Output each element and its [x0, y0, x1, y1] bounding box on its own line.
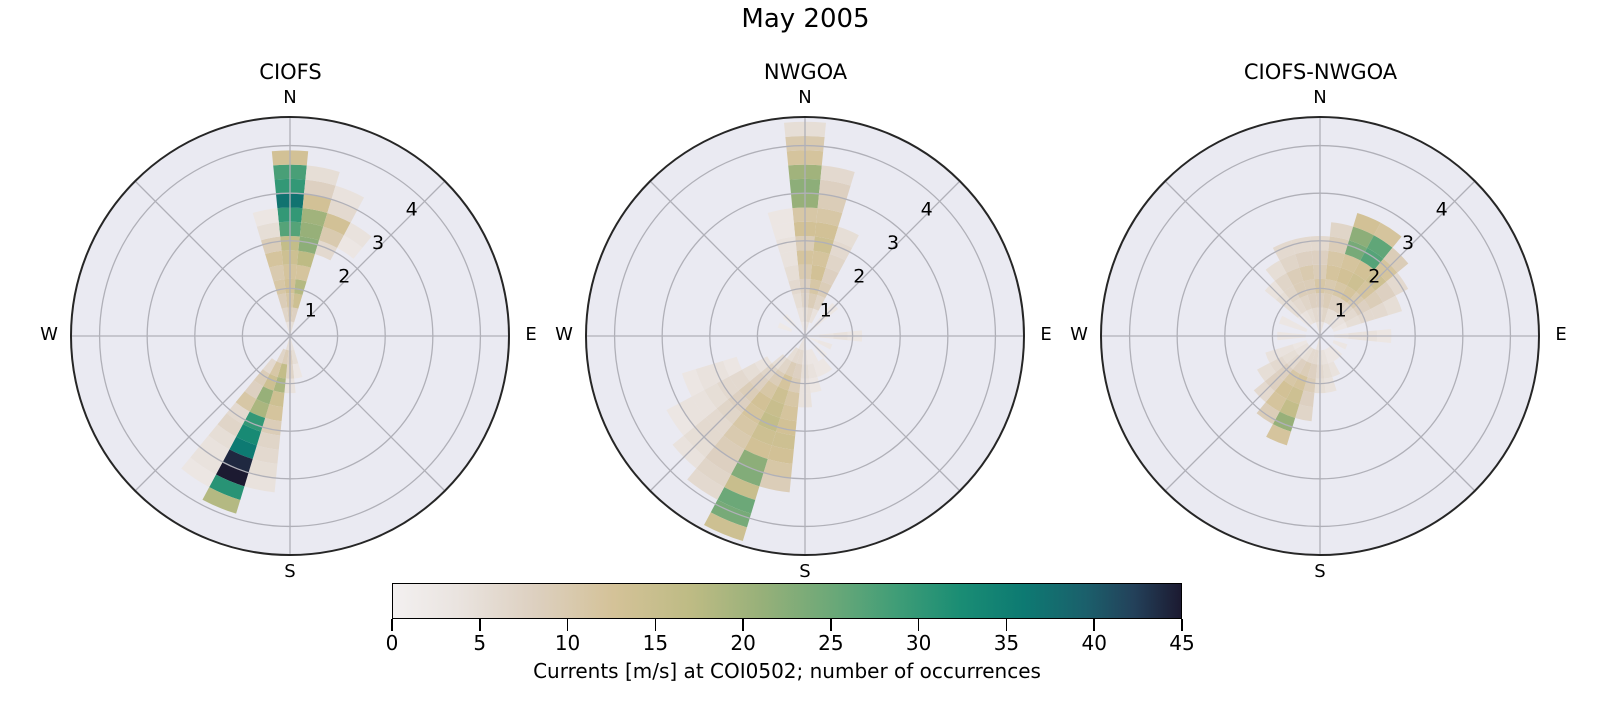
- colorbar-tick-label: 10: [555, 631, 580, 655]
- colorbar-tick: [1181, 619, 1183, 631]
- colorbar-tick-label: 25: [818, 631, 843, 655]
- polar-panel-ciofs: CIOFS 1234NESW: [22, 60, 559, 580]
- compass-label-w: W: [1069, 326, 1089, 344]
- colorbar-tick-label: 15: [643, 631, 668, 655]
- colorbar-tick: [479, 619, 481, 631]
- polar-panel-nwgoa: NWGOA 1234NESW: [537, 60, 1074, 580]
- radial-tick-label: 2: [338, 266, 350, 288]
- radial-tick-label: 3: [887, 232, 899, 254]
- radial-tick-label: 1: [820, 299, 832, 321]
- colorbar-tick-label: 5: [473, 631, 486, 655]
- colorbar-tick-labels: 051015202530354045: [392, 631, 1182, 657]
- polar-axes-ciofs: 1234NESW: [22, 92, 559, 580]
- radial-tick-label: 1: [305, 299, 317, 321]
- colorbar-tick: [742, 619, 744, 631]
- colorbar-tick-label: 30: [906, 631, 931, 655]
- colorbar-tick-label: 20: [730, 631, 755, 655]
- colorbar-tick: [830, 619, 832, 631]
- colorbar-tick-label: 40: [1081, 631, 1106, 655]
- compass-label-w: W: [554, 326, 574, 344]
- colorbar-tick-label: 35: [994, 631, 1019, 655]
- compass-label-w: W: [39, 326, 59, 344]
- polar-grid: [586, 117, 1024, 555]
- polar-axes-nwgoa: 1234NESW: [537, 92, 1074, 580]
- radial-tick-label: 2: [853, 266, 865, 288]
- colorbar-ticks: [392, 619, 1182, 631]
- compass-label-n: N: [280, 89, 300, 107]
- radial-tick-label: 4: [1436, 198, 1448, 220]
- colorbar-tick: [1006, 619, 1008, 631]
- colorbar-tick: [391, 619, 393, 631]
- polar-grid: [71, 117, 509, 555]
- polar-grid: [1101, 117, 1539, 555]
- panel-title-ciofs-nwgoa: CIOFS-NWGOA: [1052, 60, 1589, 84]
- compass-label-n: N: [1310, 89, 1330, 107]
- colorbar-gradient: [392, 583, 1182, 619]
- colorbar-axis-label: Currents [m/s] at COI0502; number of occ…: [292, 659, 1282, 683]
- colorbar-tick: [918, 619, 920, 631]
- panel-title-ciofs: CIOFS: [22, 60, 559, 84]
- polar-panel-ciofs-nwgoa: CIOFS-NWGOA 1234NESW: [1052, 60, 1589, 580]
- figure-canvas: May 2005 CIOFS 1234NESW NWGOA 1234NESW C…: [0, 0, 1611, 724]
- radial-tick-label: 3: [1402, 232, 1414, 254]
- colorbar-tick-label: 45: [1169, 631, 1194, 655]
- colorbar-tick: [655, 619, 657, 631]
- polar-axes-ciofs-nwgoa: 1234NESW: [1052, 92, 1589, 580]
- panel-title-nwgoa: NWGOA: [537, 60, 1074, 84]
- polar-plot-ciofs-nwgoa: 1234: [1052, 92, 1589, 580]
- colorbar-block: 051015202530354045 Currents [m/s] at COI…: [392, 583, 1182, 723]
- radial-tick-label: 2: [1368, 266, 1380, 288]
- compass-label-e: E: [1551, 326, 1571, 344]
- compass-label-s: S: [1310, 563, 1330, 581]
- colorbar-tick-label: 0: [386, 631, 399, 655]
- colorbar-tick: [1093, 619, 1095, 631]
- radial-tick-label: 1: [1335, 299, 1347, 321]
- colorbar-tick: [567, 619, 569, 631]
- polar-plot-ciofs: 1234: [22, 92, 559, 580]
- polar-plot-nwgoa: 1234: [537, 92, 1074, 580]
- radial-tick-label: 4: [921, 198, 933, 220]
- compass-label-s: S: [795, 563, 815, 581]
- radial-tick-label: 3: [372, 232, 384, 254]
- compass-label-n: N: [795, 89, 815, 107]
- figure-title: May 2005: [0, 4, 1611, 34]
- radial-tick-label: 4: [406, 198, 418, 220]
- compass-label-s: S: [280, 563, 300, 581]
